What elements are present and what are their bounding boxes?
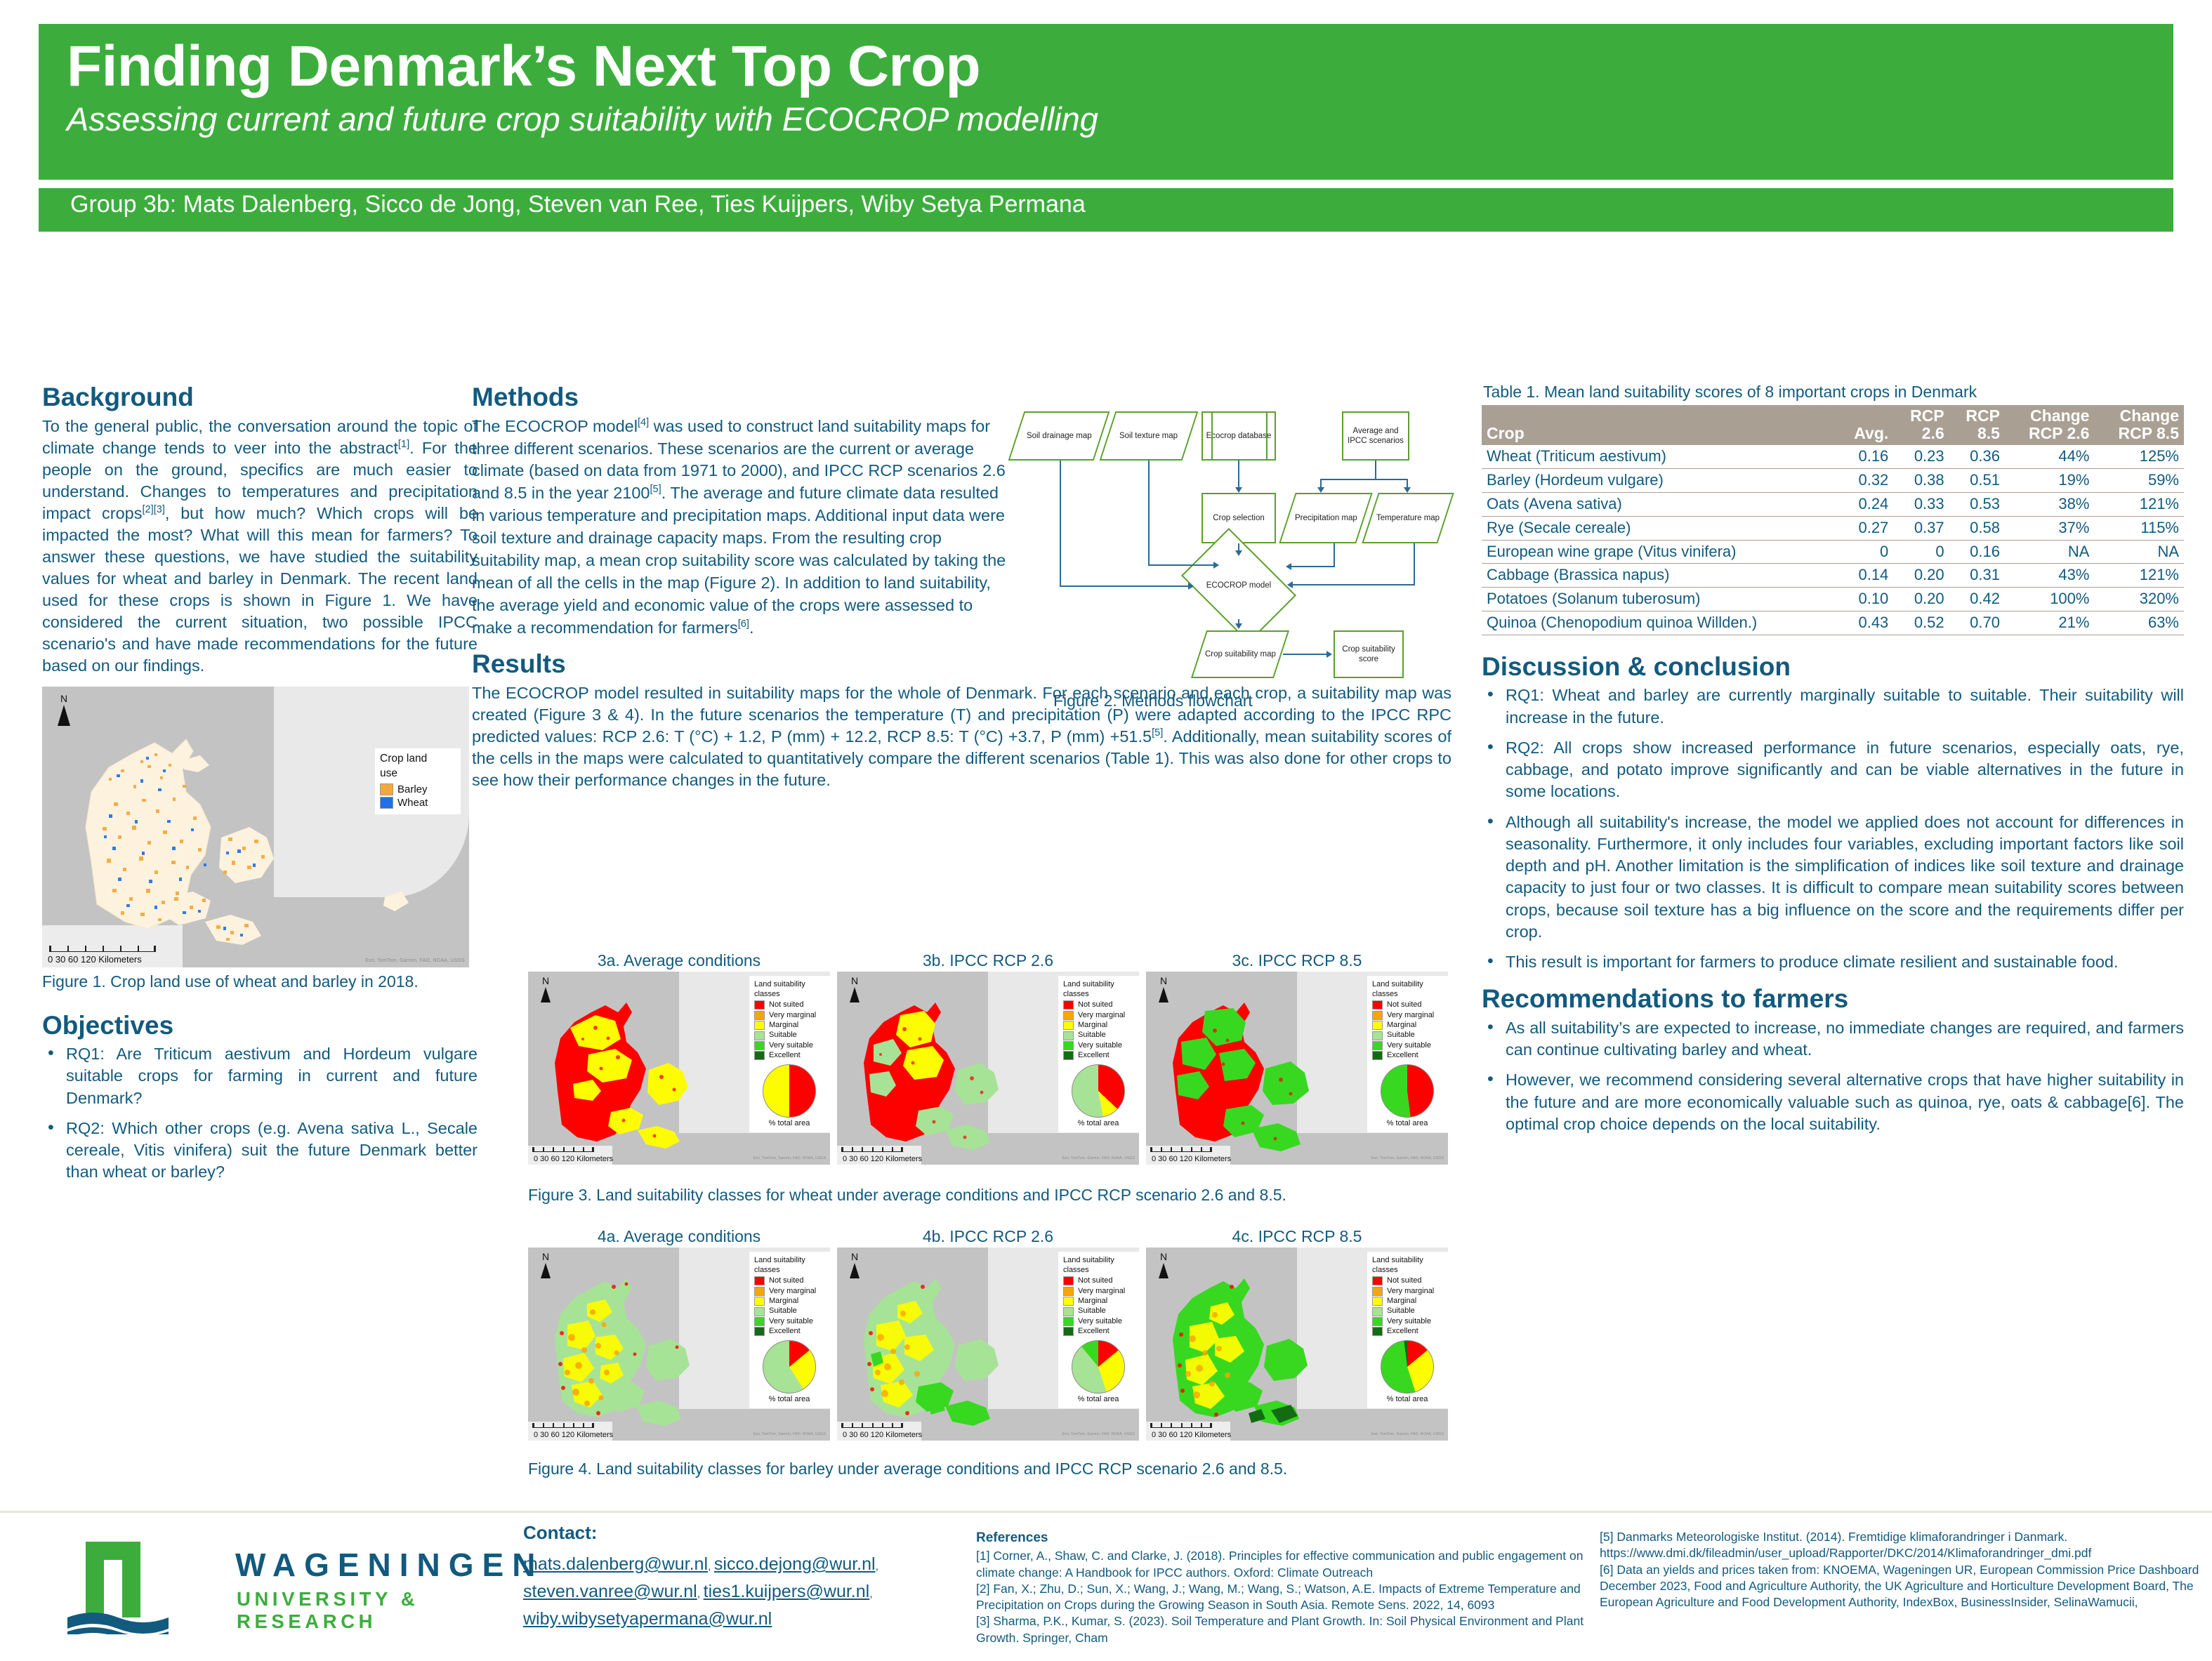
legend-label-very-suitable: Very suitable [769,1041,813,1050]
figure3-scalebar-a: 0 30 60 120 Kilometers [534,1155,613,1163]
page-subtitle: Assessing current and future crop suitab… [67,101,2173,138]
table1-header-rcp26: RCP2.6 [1893,405,1949,445]
figure3-panel-c: 3c. IPCC RCP 8.5 [1146,951,1448,1165]
figure3-panel-b-label: 3b. IPCC RCP 2.6 [837,951,1139,970]
chg26-top: Change [2030,406,2089,425]
marginal-swatch [1372,1021,1383,1030]
legend-label-not-suited: Not suited [1387,1276,1422,1285]
reference-item-3: [3] Sharma, P.K., Kumar, S. (2023). Soil… [976,1613,1601,1646]
scalebar-ticks [49,946,156,952]
scalebar-ticks-3b [841,1147,903,1152]
legend-label-very-suitable: Very suitable [1387,1041,1431,1050]
figure3-legend-a: Land suitability classes Not suited Very… [749,976,830,1132]
figure4-legend-a: Land suitability classes Not suited Very… [749,1252,830,1408]
figure3-pie-b [1072,1064,1125,1118]
wheat-swatch [380,797,393,809]
background-text: To the general public, the conversation … [42,416,478,677]
suitable-swatch [754,1031,765,1040]
citation-ref-1: [1] [398,439,409,450]
legend-label-marginal: Marginal [769,1297,798,1306]
legend-label-marginal: Marginal [769,1021,798,1030]
denmark-outline [42,687,469,967]
email-link-mats[interactable]: mats.dalenberg@wur.nl [523,1554,708,1574]
cell-avg: 0.16 [1837,445,1893,469]
methods-text-part4: . [749,618,754,637]
table1-header-rcp85: RCP8.5 [1949,405,2005,445]
marginal-swatch [754,1021,765,1030]
flow-node-temperature: Temperature map [1362,493,1454,543]
cell-rcp26: 0.20 [1893,588,1949,611]
figure4-pie-c [1381,1340,1434,1394]
not-suited-swatch [1063,1000,1074,1010]
references-left-column: References [1] Corner, A., Shaw, C. and … [976,1529,1601,1646]
cell-rcp85: 0.36 [1949,445,2005,469]
legend-label-barley: Barley [397,783,428,796]
cell-rcp85: 0.53 [1949,492,2005,516]
chg85-top: Change [2120,406,2179,425]
figure3-pie-a [763,1064,816,1118]
cell-chg85: 63% [2094,611,2184,635]
cell-avg: 0.27 [1837,516,1893,540]
figure3-caption: Figure 3. Land suitability classes for w… [528,1185,1357,1205]
flow-label-crop-selection: Crop selection [1213,513,1265,523]
figure4-panel-a: 4a. Average conditions [528,1227,830,1441]
flow-label-precipitation: Precipitation map [1295,513,1357,523]
figure3-panel-b: 3b. IPCC RCP 2.6 [837,951,1139,1165]
reference-item-1: [1] Corner, A., Shaw, C. and Clarke, J. … [976,1548,1601,1581]
map-attribution-4c: Esri, TomTom, Garmin, FAO, NOAA, USGS [1371,1432,1444,1436]
legend-row-very-suitable: Very suitable [1372,1041,1442,1050]
north-arrow-icon-3b: N [843,976,867,1002]
table-row: Rye (Secale cereale)0.270.370.5837%115% [1482,516,2184,540]
cell-chg26: 38% [2005,492,2094,516]
legend-row-excellent: Excellent [1372,1327,1442,1336]
scalebar-ticks-3a [532,1147,594,1152]
not-suited-swatch [1372,1276,1383,1285]
table-row: Cabbage (Brassica napus)0.140.200.3143%1… [1482,564,2184,588]
legend-label-excellent: Excellent [1387,1051,1418,1060]
table1-header-chg85: ChangeRCP 8.5 [2094,405,2184,445]
excellent-swatch [1063,1051,1074,1060]
marginal-swatch [754,1297,765,1306]
objectives-heading: Objectives [42,1011,478,1041]
legend-row-marginal: Marginal [1063,1297,1133,1306]
objective-item-rq2: RQ2: Which other crops (e.g. Avena sativ… [42,1118,478,1184]
table1-header-crop: Crop [1482,405,1837,445]
figure4-panel-c: 4c. IPCC RCP 8.5 [1146,1227,1448,1441]
legend-row-very-suitable: Very suitable [1063,1041,1133,1050]
legend-row-suitable: Suitable [1063,1306,1133,1316]
north-label: N [52,694,76,703]
legend-row-very-marginal: Very marginal [1372,1287,1442,1296]
legend-title-line1: Crop land [380,753,455,766]
legend-label-very-marginal: Very marginal [1387,1011,1434,1020]
flow-label-temperature: Temperature map [1376,513,1440,523]
legend-label-excellent: Excellent [1078,1051,1110,1060]
north-arrow-icon-4a: N [534,1252,558,1278]
email-link-ties[interactable]: ties1.kuijpers@wur.nl [704,1582,870,1601]
north-label-3b: N [843,976,867,986]
excellent-swatch [1063,1327,1074,1336]
results-text: The ECOCROP model resulted in suitabilit… [472,682,1451,791]
recommendations-heading: Recommendations to farmers [1482,984,2184,1014]
pie-caption-4b: % total area [1063,1395,1133,1404]
cell-rcp26: 0.38 [1893,469,1949,493]
table-row: Quinoa (Chenopodium quinoa Willden.)0.43… [1482,611,2184,635]
legend-item-wheat: Wheat [380,797,455,809]
reference-item-5: [5] Danmarks Meteorologiske Institut. (2… [1600,1529,2211,1562]
legend-label-marginal: Marginal [1387,1297,1416,1306]
legend-row-excellent: Excellent [1372,1051,1442,1060]
legend-row-very-marginal: Very marginal [754,1287,824,1296]
cell-chg85: 121% [2094,564,2184,588]
figure4-map-c[interactable]: N Land suitability classes Not suited Ve… [1146,1248,1448,1441]
contact-emails: mats.dalenberg@wur.nl, sicco.dejong@wur.… [523,1551,959,1632]
legend-label-marginal: Marginal [1078,1297,1107,1306]
table1-caption: Table 1. Mean land suitability scores of… [1483,383,2184,402]
contact-block: Contact: mats.dalenberg@wur.nl, sicco.de… [523,1522,959,1632]
legend-row-very-marginal: Very marginal [1063,1287,1133,1296]
excellent-swatch [754,1327,765,1336]
legend-label-suitable: Suitable [769,1031,797,1040]
chg26-bot: RCP 2.6 [2029,424,2090,442]
legend-label-very-suitable: Very suitable [769,1317,813,1326]
flow-node-ecocrop-model: ECOCROP model [1191,552,1286,619]
legend-label-very-suitable: Very suitable [1078,1041,1122,1050]
chg85-bot: RCP 8.5 [2118,424,2179,442]
table1-header-row: Crop Avg. RCP2.6 RCP8.5 ChangeRCP 2.6 Ch… [1482,405,2184,445]
suitable-swatch [754,1307,765,1316]
legend-label-very-marginal: Very marginal [1078,1287,1125,1296]
map-attribution-4a: Esri, TomTom, Garmin, FAO, NOAA, USGS [753,1432,826,1436]
rcp26-top: RCP [1910,406,1944,425]
figure3-map-b[interactable]: N Land suitability classes Not suited Ve… [837,972,1139,1165]
table1-header-chg26: ChangeRCP 2.6 [2005,405,2094,445]
recommendation-item-1: As all suitability’s are expected to inc… [1482,1017,2184,1061]
not-suited-swatch [754,1276,765,1285]
cell-chg85: 121% [2094,492,2184,516]
not-suited-swatch [1372,1000,1383,1010]
table1: Crop Avg. RCP2.6 RCP8.5 ChangeRCP 2.6 Ch… [1482,405,2184,635]
north-arrow-icon-3a: N [534,976,558,1002]
north-label-4a: N [534,1252,558,1262]
background-text-part3: , but how much? Which crops will be impa… [42,504,478,675]
figure4-pie-b [1072,1340,1125,1394]
flow-node-soil-texture: Soil texture map [1100,411,1199,461]
methods-text-part1: The ECOCROP model [472,417,638,435]
cell-rcp85: 0.16 [1949,540,2005,564]
figure4-legend-c: Land suitability classes Not suited Very… [1367,1252,1448,1408]
very-suitable-swatch [1372,1317,1383,1326]
cell-crop: Barley (Hordeum vulgare) [1482,469,1837,493]
north-label-4c: N [1152,1252,1176,1262]
cell-avg: 0.32 [1837,469,1893,493]
figure4-map-b[interactable]: N Land suitability classes Not suited Ve… [837,1248,1139,1441]
figure4-scalebar-a: 0 30 60 120 Kilometers [534,1431,613,1439]
map-attribution-4b: Esri, TomTom, Garmin, FAO, NOAA, USGS [1062,1432,1135,1436]
flow-node-suitability-score: Crop suitability score [1334,630,1404,678]
cell-crop: Oats (Avena sativa) [1482,492,1837,516]
figure3-legend-c: Land suitability classes Not suited Very… [1367,976,1448,1132]
email-link-wiby[interactable]: wiby.wibysetyapermana@wur.nl [523,1609,772,1629]
cell-crop: Potatoes (Solanum tuberosum) [1482,588,1837,611]
figure3-map-a[interactable]: N Land suitability classes Not suited Ve… [528,972,830,1165]
methods-text-part3: . The average and future climate data re… [472,484,1006,637]
legend-row-not-suited: Not suited [1372,1276,1442,1285]
figure4-panel-c-label: 4c. IPCC RCP 8.5 [1146,1227,1448,1245]
marginal-swatch [1372,1297,1383,1306]
figure1-legend: Crop land use Barley Wheat [375,748,461,814]
map-attribution-3a: Esri, TomTom, Garmin, FAO, NOAA, USGS [753,1156,826,1160]
flow-label-suitability-score: Crop suitability score [1335,644,1402,665]
north-arrow-icon-4b: N [843,1252,867,1278]
excellent-swatch [754,1051,765,1060]
flow-label-ecocrop-database: Ecocrop database [1206,431,1272,441]
legend-row-marginal: Marginal [1063,1021,1133,1030]
citation-ref-6: [6] [738,618,749,630]
citation-ref-5b: [5] [1152,727,1163,739]
legend-label-very-suitable: Very suitable [1078,1317,1122,1326]
cell-chg85: 59% [2094,469,2184,493]
page-title: Finding Denmark’s Next Top Crop [67,37,2173,97]
rcp85-bot: 8.5 [1977,424,2000,442]
figure3-legend-b: Land suitability classes Not suited Very… [1058,976,1139,1132]
figure4-panel-b-label: 4b. IPCC RCP 2.6 [837,1227,1139,1245]
pie-caption-3c: % total area [1372,1119,1442,1128]
legend-row-suitable: Suitable [1372,1031,1442,1040]
cell-rcp85: 0.51 [1949,469,2005,493]
recommendation-item-2: However, we recommend considering severa… [1482,1069,2184,1135]
figure3-scalebar-c: 0 30 60 120 Kilometers [1152,1155,1231,1163]
suitable-swatch [1063,1031,1074,1040]
cell-avg: 0.24 [1837,492,1893,516]
methods-text: The ECOCROP model[4] was used to constru… [472,416,1013,640]
legend-label-very-marginal: Very marginal [1387,1287,1434,1296]
contact-heading: Contact: [523,1522,959,1544]
references-heading: References [976,1529,1601,1547]
table-row: European wine grape (Vitus vinifera)000.… [1482,540,2184,564]
discussion-list: RQ1: Wheat and barley are currently marg… [1482,684,2184,973]
objective-item-rq1: RQ1: Are Triticum aestivum and Hordeum v… [42,1043,478,1109]
recommendations-list: As all suitability’s are expected to inc… [1482,1017,2184,1135]
table-row: Wheat (Triticum aestivum)0.160.230.3644%… [1482,445,2184,469]
cell-rcp26: 0 [1893,540,1949,564]
reference-item-2: [2] Fan, X.; Zhu, D.; Sun, X.; Wang, J.;… [976,1581,1601,1614]
cell-avg: 0.10 [1837,588,1893,611]
legend-label-very-marginal: Very marginal [1078,1011,1125,1020]
citation-ref-4: [4] [638,417,649,428]
legend-label-not-suited: Not suited [1078,1276,1113,1285]
table-row: Oats (Avena sativa)0.240.330.5338%121% [1482,492,2184,516]
marginal-swatch [1063,1021,1074,1030]
discussion-item-rq2: RQ2: All crops show increased performanc… [1482,737,2184,803]
barley-swatch [380,783,393,795]
legend-label-very-suitable: Very suitable [1387,1317,1431,1326]
cell-rcp26: 0.23 [1893,445,1949,469]
figure1-map[interactable]: N Crop land use Barley Wheat [42,687,469,967]
legend-row-not-suited: Not suited [1063,1000,1133,1010]
legend-row-not-suited: Not suited [754,1276,824,1285]
legend-label-very-marginal: Very marginal [769,1287,816,1296]
column-right: Table 1. Mean land suitability scores of… [1482,383,2184,1144]
very-suitable-swatch [754,1317,765,1326]
legend-label-excellent: Excellent [769,1327,801,1336]
discussion-item-rq1: RQ1: Wheat and barley are currently marg… [1482,684,2184,729]
email-sep-3: , [697,1588,704,1600]
pie-caption-3b: % total area [1063,1119,1133,1128]
pie-caption-3a: % total area [754,1119,824,1128]
cell-crop: Cabbage (Brassica napus) [1482,564,1837,588]
legend-title-3a: Land suitability classes [754,980,824,999]
legend-label-not-suited: Not suited [769,1276,804,1285]
figure3-pie-c [1381,1064,1434,1118]
cell-chg26: 100% [2005,588,2094,611]
poster-header: Finding Denmark’s Next Top Crop Assessin… [39,24,2173,180]
email-sep-2: , [876,1561,878,1573]
legend-row-suitable: Suitable [754,1306,824,1316]
legend-row-excellent: Excellent [754,1327,824,1336]
figure4-map-a[interactable]: N Land suitability classes Not suited Ve… [528,1248,830,1441]
cell-avg: 0 [1837,540,1893,564]
suitable-swatch [1372,1307,1383,1316]
flow-label-suitability-map: Crop suitability map [1205,649,1276,659]
legend-label-not-suited: Not suited [769,1000,804,1010]
legend-row-not-suited: Not suited [754,1000,824,1010]
cell-chg26: NA [2005,540,2094,564]
cell-chg85: NA [2094,540,2184,564]
north-arrow-icon-4c: N [1152,1252,1176,1278]
legend-title-3c: Land suitability classes [1372,980,1442,999]
wur-mark-icon [63,1536,183,1634]
legend-row-very-marginal: Very marginal [1372,1011,1442,1020]
legend-label-not-suited: Not suited [1387,1000,1422,1010]
email-sep-4: , [869,1588,872,1600]
flow-label-scenarios: Average and IPCC scenarios [1343,426,1408,446]
figure4-panel-b: 4b. IPCC RCP 2.6 [837,1227,1139,1441]
citation-ref-5: [5] [650,484,661,496]
legend-row-very-suitable: Very suitable [754,1041,824,1050]
cell-crop: Quinoa (Chenopodium quinoa Willden.) [1482,611,1837,635]
legend-row-excellent: Excellent [1063,1327,1133,1336]
flow-node-soil-drainage: Soil drainage map [1008,411,1110,461]
cell-crop: European wine grape (Vitus vinifera) [1482,540,1837,564]
email-link-sicco[interactable]: sicco.dejong@wur.nl [714,1554,876,1574]
legend-row-very-suitable: Very suitable [1372,1317,1442,1326]
email-link-steven[interactable]: steven.vanree@wur.nl [523,1582,697,1601]
legend-row-marginal: Marginal [1372,1021,1442,1030]
figure4-scalebar-b: 0 30 60 120 Kilometers [843,1431,922,1439]
figure4-row: 4a. Average conditions [528,1227,1448,1441]
legend-row-marginal: Marginal [754,1297,824,1306]
flow-node-suitability-map: Crop suitability map [1191,630,1289,678]
table-row: Potatoes (Solanum tuberosum)0.100.200.42… [1482,588,2184,611]
figure4-legend-b: Land suitability classes Not suited Very… [1058,1252,1139,1408]
pie-caption-4c: % total area [1372,1395,1442,1404]
very-marginal-swatch [1063,1011,1074,1020]
table-row: Barley (Hordeum vulgare)0.320.380.5119%5… [1482,469,2184,493]
legend-label-suitable: Suitable [769,1306,797,1316]
scalebar-ticks-4b [841,1423,903,1428]
cell-chg26: 37% [2005,516,2094,540]
cell-rcp85: 0.58 [1949,516,2005,540]
wur-wordmark-line2: UNIVERSITY & RESEARCH [237,1588,513,1633]
figure3-panel-c-label: 3c. IPCC RCP 8.5 [1146,951,1448,970]
cell-chg26: 43% [2005,564,2094,588]
legend-label-wheat: Wheat [397,797,428,809]
legend-row-excellent: Excellent [754,1051,824,1060]
figure3-map-c[interactable]: N Land suitability classes Not suited Ve… [1146,972,1448,1165]
cell-chg26: 44% [2005,445,2094,469]
legend-title-3b: Land suitability classes [1063,980,1133,999]
cell-chg26: 21% [2005,611,2094,635]
map-attribution-3b: Esri, TomTom, Garmin, FAO, NOAA, USGS [1062,1156,1135,1160]
cell-avg: 0.43 [1837,611,1893,635]
legend-label-suitable: Suitable [1078,1306,1106,1316]
figure3-row: 3a. Average conditions [528,951,1448,1165]
very-marginal-swatch [754,1011,765,1020]
pie-caption-4a: % total area [754,1395,824,1404]
reference-item-6: [6] Data an yields and prices taken from… [1600,1562,2211,1611]
map-attribution-3c: Esri, TomTom, Garmin, FAO, NOAA, USGS [1371,1156,1444,1160]
figure4-panel-a-label: 4a. Average conditions [528,1227,830,1245]
flow-label-ecocrop-model: ECOCROP model [1191,552,1286,619]
table1-body: Wheat (Triticum aestivum)0.160.230.3644%… [1482,445,2184,635]
map-attribution: Esri, TomTom, Garmin, FAO, NOAA, USGS [365,958,465,963]
cell-crop: Rye (Secale cereale) [1482,516,1837,540]
legend-row-very-marginal: Very marginal [1063,1011,1133,1020]
suitable-swatch [1063,1307,1074,1316]
very-suitable-swatch [1063,1041,1074,1050]
figure4-pie-a [763,1340,816,1394]
discussion-item-limitations: Although all suitability's increase, the… [1482,812,2184,944]
legend-row-suitable: Suitable [754,1031,824,1040]
legend-title-4c: Land suitability classes [1372,1256,1442,1275]
cell-avg: 0.14 [1837,564,1893,588]
author-list: Group 3b: Mats Dalenberg, Sicco de Jong,… [39,188,2173,232]
flow-node-scenarios: Average and IPCC scenarios [1342,411,1409,461]
figure1-container: N Crop land use Barley Wheat [42,687,469,993]
legend-label-suitable: Suitable [1387,1031,1415,1040]
figure1-scalebar: 0 30 60 120 Kilometers [48,954,142,965]
legend-row-very-suitable: Very suitable [754,1317,824,1326]
legend-label-marginal: Marginal [1387,1021,1416,1030]
marginal-swatch [1063,1297,1074,1306]
figure3-panel-a: 3a. Average conditions [528,951,830,1165]
legend-title-line2: use [380,767,455,781]
flow-label-soil-drainage: Soil drainage map [1027,431,1092,441]
legend-label-excellent: Excellent [1078,1327,1110,1336]
legend-label-excellent: Excellent [769,1051,801,1060]
legend-row-suitable: Suitable [1063,1031,1133,1040]
very-suitable-swatch [1063,1317,1074,1326]
column-left: Background To the general public, the co… [42,383,478,1192]
figure1-caption: Figure 1. Crop land use of wheat and bar… [42,972,469,993]
email-sep-1: , [708,1561,714,1573]
very-marginal-swatch [754,1287,765,1296]
cell-chg85: 115% [2094,516,2184,540]
very-marginal-swatch [1063,1287,1074,1296]
wur-wordmark-line1: WAGENINGEN [235,1546,544,1584]
very-marginal-swatch [1372,1287,1383,1296]
cell-rcp85: 0.42 [1949,588,2005,611]
references-right-column: [5] Danmarks Meteorologiske Institut. (2… [1600,1529,2211,1610]
legend-label-very-marginal: Very marginal [769,1011,816,1020]
north-label-3a: N [534,976,558,986]
figure4-caption: Figure 4. Land suitability classes for b… [528,1459,1357,1479]
cell-crop: Wheat (Triticum aestivum) [1482,445,1837,469]
legend-label-not-suited: Not suited [1078,1000,1113,1010]
scalebar-ticks-4a [532,1423,594,1428]
